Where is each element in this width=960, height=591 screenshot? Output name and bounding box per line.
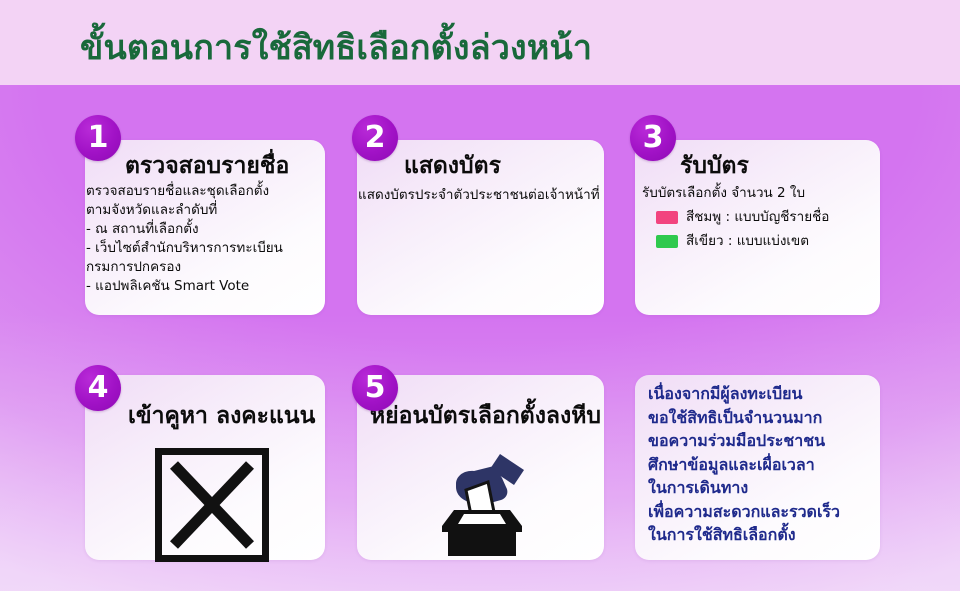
step-badge-5: 5 <box>352 365 398 411</box>
step-body-3: รับบัตรเลือกตั้ง จำนวน 2 ใบ สีชมพู : แบบ… <box>642 184 829 251</box>
step-badge-1: 1 <box>75 115 121 161</box>
step-body-line: - ณ สถานที่เลือกตั้ง <box>86 220 283 239</box>
green-swatch-icon <box>656 235 678 248</box>
step-heading-3: รับบัตร <box>680 148 749 184</box>
step-body-2: แสดงบัตรประจำตัวประชาชนต่อเจ้าหน้าที่ <box>358 186 600 205</box>
note-line: ในการเดินทาง <box>648 476 840 500</box>
step-body-line: ตามจังหวัดและลำดับที่ <box>86 201 283 220</box>
step-body-line: กรมการปกครอง <box>86 258 283 277</box>
note-line: ศึกษาข้อมูลและเผื่อเวลา <box>648 453 840 477</box>
ballot-box-hand-icon <box>432 440 532 558</box>
note-line: เพื่อความสะดวกและรวดเร็ว <box>648 500 840 524</box>
infographic-root: ขั้นตอนการใช้สิทธิเลือกตั้งล่วงหน้า 1 2 … <box>0 0 960 591</box>
step-body-line: รับบัตรเลือกตั้ง จำนวน 2 ใบ <box>642 184 829 203</box>
step-body-line: - แอปพลิเคชัน Smart Vote <box>86 277 283 296</box>
ballot-legend-row-green: สีเขียว : แบบแบ่งเขต <box>642 232 829 251</box>
step-heading-4: เข้าคูหา ลงคะแนน <box>128 398 315 434</box>
step-body-line: - เว็บไซต์สำนักบริหารการทะเบียน <box>86 239 283 258</box>
step-badge-3: 3 <box>630 115 676 161</box>
step-body-1: ตรวจสอบรายชื่อและชุดเลือกตั้ง ตามจังหวัด… <box>86 182 283 296</box>
note-text: เนื่องจากมีผู้ลงทะเบียน ขอใช้สิทธิเป็นจำ… <box>648 382 840 547</box>
x-mark-box-icon <box>155 448 269 562</box>
note-line: เนื่องจากมีผู้ลงทะเบียน <box>648 382 840 406</box>
note-line: ขอใช้สิทธิเป็นจำนวนมาก <box>648 406 840 430</box>
step-heading-5: หย่อนบัตรเลือกตั้งลงหีบ <box>370 398 601 434</box>
ballot-legend-row-pink: สีชมพู : แบบบัญชีรายชื่อ <box>642 208 829 227</box>
step-badge-2: 2 <box>352 115 398 161</box>
step-badge-4: 4 <box>75 365 121 411</box>
step-heading-2: แสดงบัตร <box>404 148 501 184</box>
step-body-line: ตรวจสอบรายชื่อและชุดเลือกตั้ง <box>86 182 283 201</box>
legend-label: สีชมพู : แบบบัญชีรายชื่อ <box>686 208 829 227</box>
note-line: ขอความร่วมมือประชาชน <box>648 429 840 453</box>
step-heading-1: ตรวจสอบรายชื่อ <box>125 148 289 184</box>
pink-swatch-icon <box>656 211 678 224</box>
legend-label: สีเขียว : แบบแบ่งเขต <box>686 232 809 251</box>
page-title: ขั้นตอนการใช้สิทธิเลือกตั้งล่วงหน้า <box>80 20 592 74</box>
header-band: ขั้นตอนการใช้สิทธิเลือกตั้งล่วงหน้า <box>0 0 960 85</box>
step-body-line: แสดงบัตรประจำตัวประชาชนต่อเจ้าหน้าที่ <box>358 186 600 205</box>
note-line: ในการใช้สิทธิเลือกตั้ง <box>648 523 840 547</box>
